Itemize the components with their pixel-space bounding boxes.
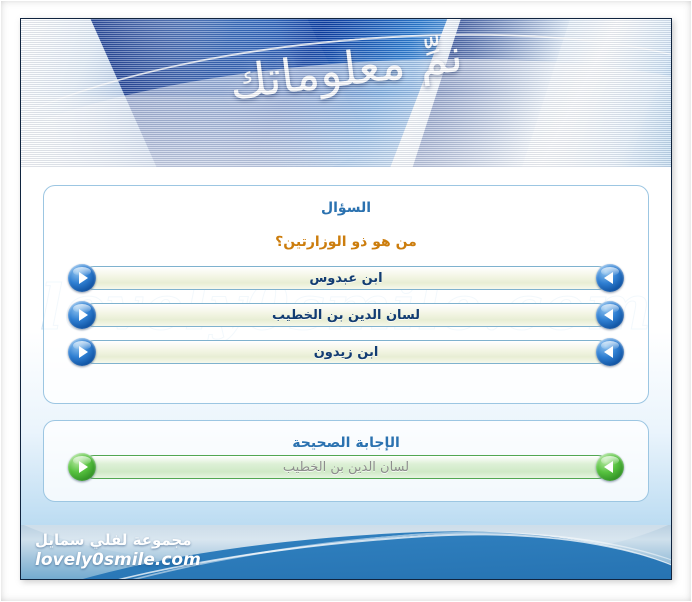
screenshot-page: نمِّ معلوماتك lovely0smile.com السؤال من…: [0, 0, 692, 602]
play-left-arrow-icon[interactable]: [596, 264, 624, 292]
play-right-arrow-icon[interactable]: [68, 453, 96, 481]
play-left-arrow-icon[interactable]: [596, 301, 624, 329]
answer-card: الإجابة الصحيحة لسان الدين بن الخطيب: [43, 420, 649, 502]
play-right-arrow-icon[interactable]: [68, 338, 96, 366]
answer-card-title: الإجابة الصحيحة: [60, 435, 632, 451]
play-right-arrow-icon[interactable]: [68, 301, 96, 329]
question-card-title: السؤال: [60, 200, 632, 216]
footer-credit: مجموعة لفلي سمايل lovely0smile.com: [35, 531, 201, 570]
correct-answer-row[interactable]: لسان الدين بن الخطيب: [68, 453, 624, 481]
option-label: ابن عبدوس: [309, 271, 382, 286]
correct-answer-label: لسان الدين بن الخطيب: [283, 460, 409, 475]
body-area: lovely0smile.com السؤال من هو ذو الوزارت…: [21, 167, 671, 525]
question-card: السؤال من هو ذو الوزارتين؟ ابن عبدوس لسا…: [43, 185, 649, 404]
content-frame: نمِّ معلوماتك lovely0smile.com السؤال من…: [20, 18, 672, 580]
footer-banner: مجموعة لفلي سمايل lovely0smile.com: [21, 525, 671, 580]
option-row[interactable]: لسان الدين بن الخطيب: [68, 301, 624, 329]
header-banner: نمِّ معلوماتك: [21, 19, 671, 167]
footer-arabic-text: مجموعة لفلي سمايل: [35, 531, 201, 550]
question-text: من هو ذو الوزارتين؟: [60, 234, 632, 250]
play-left-arrow-icon[interactable]: [596, 453, 624, 481]
footer-site-url: lovely0smile.com: [35, 550, 201, 570]
option-row[interactable]: ابن زيدون: [68, 338, 624, 366]
option-row[interactable]: ابن عبدوس: [68, 264, 624, 292]
option-label: لسان الدين بن الخطيب: [272, 308, 420, 323]
option-label: ابن زيدون: [314, 345, 379, 360]
play-left-arrow-icon[interactable]: [596, 338, 624, 366]
answer-list: لسان الدين بن الخطيب: [60, 453, 632, 481]
play-right-arrow-icon[interactable]: [68, 264, 96, 292]
options-list: ابن عبدوس لسان الدين بن الخطيب ابن زيدون: [60, 264, 632, 366]
